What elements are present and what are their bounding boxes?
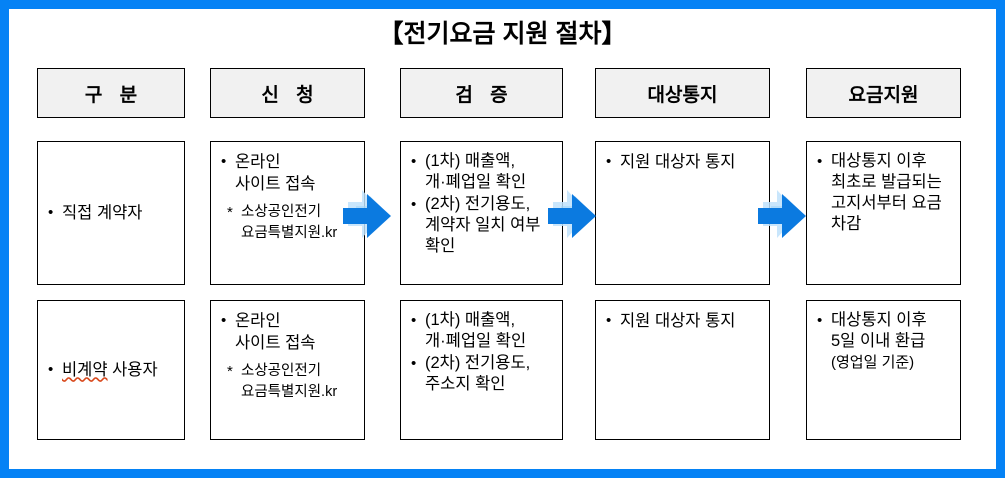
column-header-sincheong-label: 신 청 <box>255 80 319 107</box>
bullet-row2-geomjeung-0: (1차) 매출액, 개·폐업일 확인 <box>409 310 556 352</box>
bullet-row2-geomjeung-1: (2차) 전기용도, 주소지 확인 <box>409 353 556 395</box>
column-header-geomjeung: 검 증 <box>400 68 563 118</box>
frame-border-bottom <box>0 469 1005 478</box>
bullet-row2-gubun-0: 비계약 사용자 <box>46 359 178 381</box>
cell-row2-sincheong: 온라인 사이트 접속 소상공인전기 요금특별지원.kr <box>210 300 365 440</box>
column-header-geomjeung-label: 검 증 <box>449 80 513 107</box>
cell-row2-gubun: 비계약 사용자 <box>37 300 185 440</box>
column-header-sincheong: 신 청 <box>210 68 365 118</box>
bullet-row2-daesang-0: 지원 대상자 통지 <box>604 310 763 332</box>
bullet-row1-geomjeung-0: (1차) 매출액, 개·폐업일 확인 <box>409 151 556 193</box>
column-header-daesang-label: 대상통지 <box>648 80 718 107</box>
cell-row2-geomjeung: (1차) 매출액, 개·폐업일 확인 (2차) 전기용도, 주소지 확인 <box>400 300 563 440</box>
arrow-sincheong-to-geomjeung <box>337 188 393 244</box>
frame-border-top <box>0 0 1005 9</box>
cell-row2-yogeum: 대상통지 이후 5일 이내 환급 (영업일 기준) <box>806 300 961 440</box>
bullet-row2-sincheong-0: 온라인 사이트 접속 <box>219 310 358 354</box>
arrow-daesang-to-yogeum <box>752 188 808 244</box>
diagram-canvas: 【전기요금 지원 절차】 구 분 신 청 검 증 대상통지 요금지원 직접 계약… <box>0 0 1005 478</box>
frame-border-right <box>996 0 1005 478</box>
cell-row1-daesang: 지원 대상자 통지 <box>595 141 770 285</box>
bullet-row1-geomjeung-1: (2차) 전기용도, 계약자 일치 여부 확인 <box>409 194 556 257</box>
column-header-gubun: 구 분 <box>37 68 185 118</box>
column-header-yogeum: 요금지원 <box>806 68 961 118</box>
column-header-yogeum-label: 요금지원 <box>849 80 919 107</box>
bullet-row2-yogeum-0: 대상통지 이후 5일 이내 환급 <box>815 310 954 352</box>
bullet-row1-daesang-0: 지원 대상자 통지 <box>604 151 763 173</box>
page-title: 【전기요금 지원 절차】 <box>0 18 1005 50</box>
cell-row2-daesang: 지원 대상자 통지 <box>595 300 770 440</box>
note-row2-sincheong: 소상공인전기 요금특별지원.kr <box>219 361 358 403</box>
column-header-gubun-label: 구 분 <box>79 80 143 107</box>
cell-row1-yogeum: 대상통지 이후 최초로 발급되는 고지서부터 요금 차감 <box>806 141 961 285</box>
frame-border-left <box>0 0 9 478</box>
cell-row1-gubun: 직접 계약자 <box>37 141 185 285</box>
sub-row2-yogeum: (영업일 기준) <box>815 352 954 373</box>
spellcheck-word: 비계약 <box>62 361 108 379</box>
bullet-row1-gubun-0: 직접 계약자 <box>46 202 178 224</box>
bullet-row1-yogeum-0: 대상통지 이후 최초로 발급되는 고지서부터 요금 차감 <box>815 151 954 235</box>
column-header-daesang: 대상통지 <box>595 68 770 118</box>
arrow-geomjeung-to-daesang <box>542 188 598 244</box>
cell-row1-geomjeung: (1차) 매출액, 개·폐업일 확인 (2차) 전기용도, 계약자 일치 여부 … <box>400 141 563 285</box>
